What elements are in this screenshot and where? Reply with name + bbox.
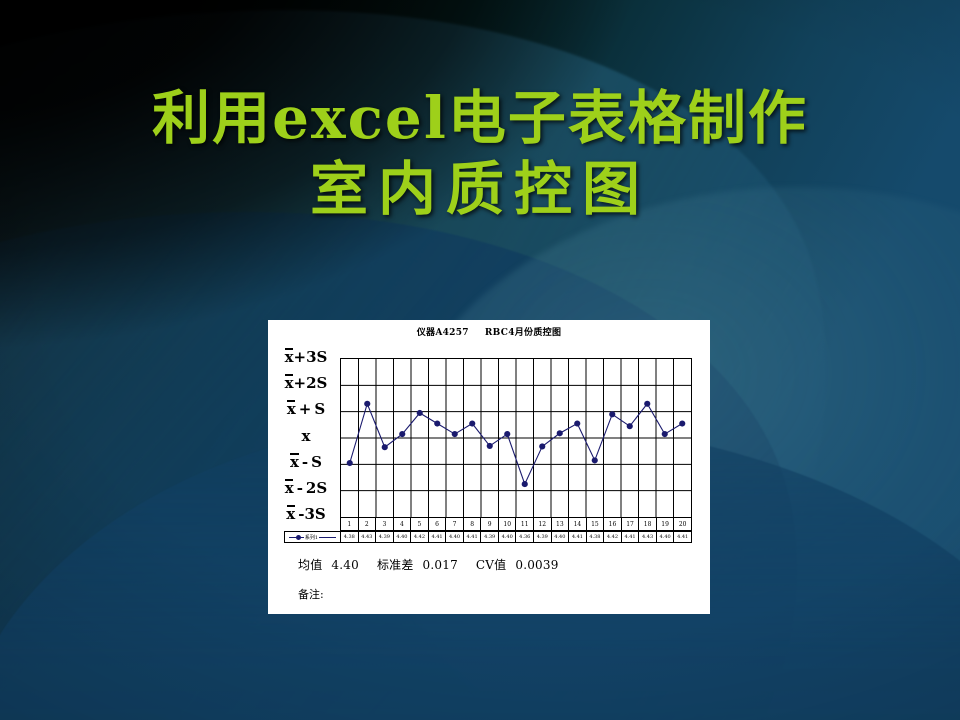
x-axis-category-cell: 6 xyxy=(429,518,447,530)
stat-cv-label: CV值 xyxy=(476,558,506,572)
chart-title-main: RBC4月份质控图 xyxy=(485,328,561,338)
y-tick-minus2sd: x - 2S xyxy=(274,481,338,496)
x-axis-category-row: 1234567891011121314151617181920 xyxy=(340,518,692,531)
stat-mean-label: 均值 xyxy=(298,558,322,572)
data-value-cell: 4.41 xyxy=(429,532,447,542)
data-value-cell: 4.41 xyxy=(622,532,640,542)
data-value-cell: 4.40 xyxy=(499,532,517,542)
slide-title: 利用excel电子表格制作 室内质控图 xyxy=(0,88,960,221)
data-value-cell: 4.43 xyxy=(359,532,377,542)
chart-title: 仪器A4257RBC4月份质控图 xyxy=(268,325,710,338)
qc-chart-card: 仪器A4257RBC4月份质控图 x+3S x+2S x + S x x - S… xyxy=(268,320,710,614)
data-value-cell: 4.40 xyxy=(657,532,675,542)
chart-svg xyxy=(341,359,691,517)
x-axis-category-cell: 4 xyxy=(394,518,412,530)
x-axis-category-cell: 5 xyxy=(411,518,429,530)
slide-title-line-2: 室内质控图 xyxy=(0,159,960,220)
stat-mean-value: 4.40 xyxy=(331,558,359,572)
x-axis-category-cell: 17 xyxy=(622,518,640,530)
x-axis-category-cell: 14 xyxy=(569,518,587,530)
stat-sd-label: 标准差 xyxy=(377,558,414,572)
x-axis-category-cell: 20 xyxy=(674,518,691,530)
data-value-cell: 4.41 xyxy=(569,532,587,542)
data-value-cell: 4.39 xyxy=(481,532,499,542)
data-value-cell: 4.42 xyxy=(604,532,622,542)
presentation-slide: 利用excel电子表格制作 室内质控图 仪器A4257RBC4月份质控图 x+3… xyxy=(0,0,960,720)
stat-sd-value: 0.017 xyxy=(423,558,458,572)
x-axis-category-cell: 2 xyxy=(359,518,377,530)
x-axis-category-cell: 18 xyxy=(639,518,657,530)
data-value-cell: 4.38 xyxy=(587,532,605,542)
y-tick-plus2sd: x+2S xyxy=(274,376,338,391)
data-value-cell: 4.42 xyxy=(411,532,429,542)
x-axis-category-cell: 13 xyxy=(552,518,570,530)
x-axis-category-cell: 16 xyxy=(604,518,622,530)
legend-label: 系列1 xyxy=(304,534,319,541)
x-axis-category-cell: 10 xyxy=(499,518,517,530)
chart-legend: 系列1 xyxy=(285,532,341,542)
chart-statistics: 均值4.40标准差0.017CV值0.0039 xyxy=(298,556,559,573)
x-axis-category-cell: 8 xyxy=(464,518,482,530)
y-tick-plus3sd: x+3S xyxy=(274,350,338,365)
data-value-cell: 4.40 xyxy=(446,532,464,542)
y-axis-labels: x+3S x+2S x + S x x - S x - 2S x -3S xyxy=(274,350,338,550)
x-axis-category-cell: 7 xyxy=(446,518,464,530)
x-axis-category-cell: 9 xyxy=(481,518,499,530)
y-tick-minus3sd: x -3S xyxy=(274,507,338,522)
y-tick-plus1sd: x + S xyxy=(274,402,338,417)
slide-title-line-1: 利用excel电子表格制作 xyxy=(0,88,960,149)
data-value-cells: 4.384.434.394.404.424.414.404.414.394.40… xyxy=(341,532,691,542)
chart-plot-area xyxy=(340,358,692,518)
x-axis-category-cell: 15 xyxy=(587,518,605,530)
data-value-cell: 4.36 xyxy=(516,532,534,542)
data-value-cell: 4.43 xyxy=(639,532,657,542)
data-value-cell: 4.40 xyxy=(394,532,412,542)
data-value-row: 系列1 4.384.434.394.404.424.414.404.414.39… xyxy=(284,531,692,543)
x-axis-category-cell: 3 xyxy=(376,518,394,530)
data-value-cell: 4.41 xyxy=(674,532,691,542)
x-axis-category-cell: 1 xyxy=(341,518,359,530)
chart-note-label: 备注: xyxy=(298,586,324,602)
y-tick-minus1sd: x - S xyxy=(274,455,338,470)
data-value-cell: 4.39 xyxy=(534,532,552,542)
stat-cv-value: 0.0039 xyxy=(515,558,558,572)
x-axis-category-cell: 12 xyxy=(534,518,552,530)
data-value-cell: 4.39 xyxy=(376,532,394,542)
data-value-cell: 4.38 xyxy=(341,532,359,542)
legend-marker-icon xyxy=(296,535,301,540)
x-axis-category-cell: 11 xyxy=(516,518,534,530)
data-value-cell: 4.41 xyxy=(464,532,482,542)
data-value-cell: 4.40 xyxy=(552,532,570,542)
y-tick-mean: x xyxy=(274,429,338,444)
x-axis-category-cell: 19 xyxy=(657,518,675,530)
chart-title-instrument: 仪器A4257 xyxy=(417,328,469,338)
